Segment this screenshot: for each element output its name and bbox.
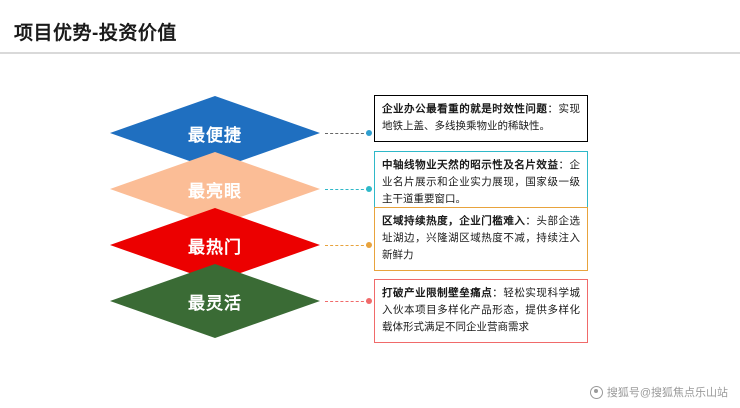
callout-box-1[interactable]: 企业办公最看重的就是时效性问题：实现地铁上盖、多线换乘物业的稀缺性。: [374, 95, 588, 142]
slide-canvas: 项目优势-投资价值 最便捷 最亮眼 最热门 最灵活 企业办公最看重的就是时效性问…: [0, 0, 740, 408]
connector-dot-1: [366, 130, 372, 136]
watermark: 搜狐号@搜狐焦点乐山站: [590, 384, 728, 400]
connector-dot-3: [366, 242, 372, 248]
connector-dot-2: [366, 186, 372, 192]
souhu-logo-icon: [590, 386, 603, 399]
connector-dot-4: [366, 298, 372, 304]
callout-box-2[interactable]: 中轴线物业天然的昭示性及名片效益：企业名片展示和企业实力展现，国家级一级主干道重…: [374, 151, 588, 215]
connector-line-4: [325, 301, 369, 302]
connector-line-2: [325, 189, 369, 190]
callout-heading-3: 区域持续热度，企业门槛难入: [382, 215, 525, 227]
callout-heading-4: 打破产业限制壁垒痛点: [382, 287, 492, 299]
callout-box-3[interactable]: 区域持续热度，企业门槛难入：头部企选址湖边，兴隆湖区域热度不减，持续注入新鲜力: [374, 207, 588, 271]
page-title: 项目优势-投资价值: [14, 18, 177, 45]
title-divider: [0, 52, 740, 54]
diamond-item-4[interactable]: 最灵活: [110, 264, 320, 338]
callout-box-4[interactable]: 打破产业限制壁垒痛点：轻松实现科学城入伙本项目多样化产品形态，提供多样化载体形式…: [374, 279, 588, 343]
callout-heading-2: 中轴线物业天然的昭示性及名片效益: [382, 159, 558, 171]
connector-line-1: [325, 133, 369, 134]
callout-heading-1: 企业办公最看重的就是时效性问题: [382, 103, 547, 115]
connector-line-3: [325, 245, 369, 246]
diamond-label-4: 最灵活: [110, 264, 320, 338]
watermark-text: 搜狐号@搜狐焦点乐山站: [607, 384, 728, 400]
